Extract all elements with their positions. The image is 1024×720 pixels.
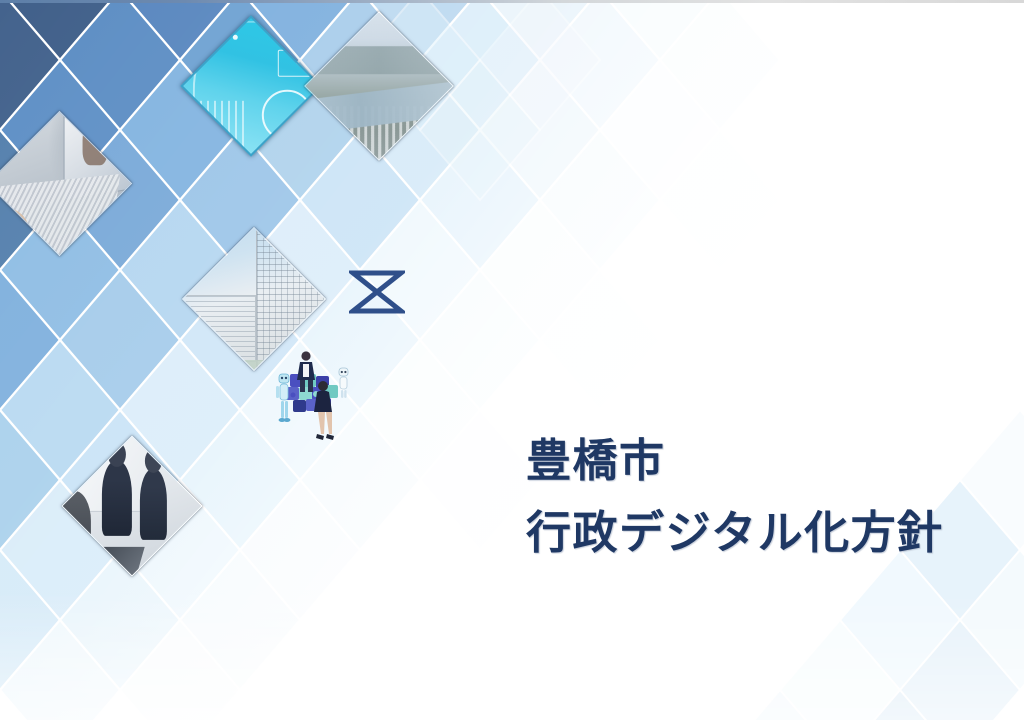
figure-robot-right <box>339 368 348 398</box>
toyohashi-city-emblem <box>349 268 405 316</box>
title-line-policy-name: 行政デジタル化方針 <box>526 497 944 569</box>
people-robot-puzzle-illustration <box>262 330 362 450</box>
figure-robot-left <box>276 374 290 422</box>
diamond-lattice-background <box>0 0 1024 720</box>
presentation-slide: 豊橋市 行政デジタル化方針 <box>0 0 1024 720</box>
top-edge-hairline <box>0 0 1024 3</box>
slide-title-block: 豊橋市 行政デジタル化方針 <box>526 425 944 569</box>
title-line-city-name: 豊橋市 <box>526 425 944 497</box>
